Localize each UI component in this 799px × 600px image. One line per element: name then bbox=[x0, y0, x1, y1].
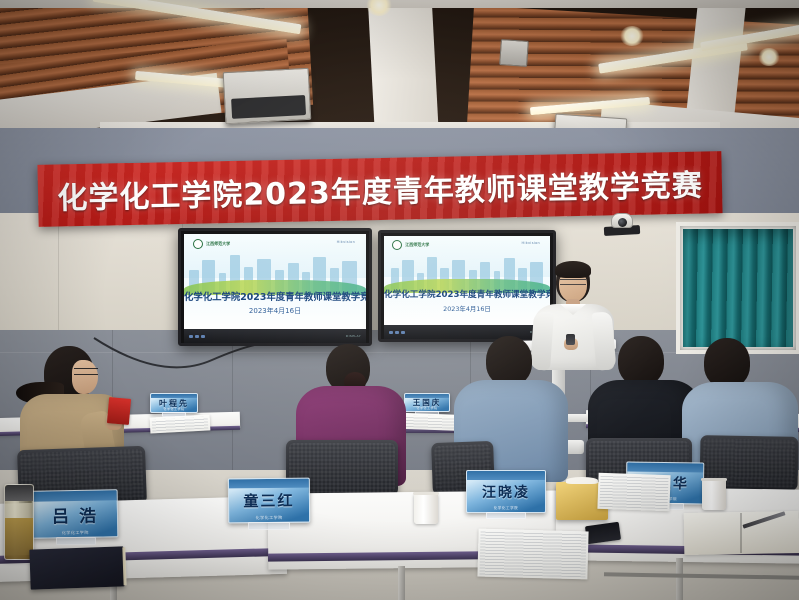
logo-seal-icon bbox=[392, 240, 402, 250]
desk-leg-3 bbox=[676, 558, 683, 600]
window-curtain[interactable] bbox=[683, 229, 793, 347]
notebook-spine-right bbox=[740, 513, 742, 553]
paper-cup-right[interactable] bbox=[702, 480, 726, 510]
placard-back-left: 叶程先 化学化工学院 bbox=[150, 393, 198, 413]
slide-brand-text: Hikvision bbox=[337, 240, 356, 244]
placard-wang-xiaoling: 汪晓凌 化学化工学院 bbox=[466, 470, 546, 513]
placard-subtitle: 化学化工学院 bbox=[467, 506, 545, 511]
chin-buttons[interactable] bbox=[189, 335, 205, 338]
placard-name: 叶程先 bbox=[159, 398, 189, 409]
placard-name: 童三红 bbox=[243, 490, 294, 511]
slide-date-left: 2023年4月16日 bbox=[184, 306, 366, 316]
presenter-hair bbox=[555, 261, 591, 278]
photo-scene: 化学化工学院2023年度青年教师课堂教学竞赛 江西 bbox=[0, 0, 799, 600]
paper-cup-center[interactable] bbox=[414, 494, 438, 524]
placard-name: 汪晓凌 bbox=[482, 482, 530, 502]
slide-university-logo: 江西师范大学 bbox=[392, 240, 429, 250]
ptz-camera-icon bbox=[611, 213, 633, 228]
placard-tong-sanhong: 童三红 化学化工学院 bbox=[228, 478, 310, 524]
attendee-head bbox=[704, 338, 750, 388]
tea-thermos[interactable] bbox=[4, 484, 34, 560]
paper-lines bbox=[479, 531, 586, 578]
placard-subtitle: 化学化工学院 bbox=[229, 515, 309, 522]
score-sheet-front-center[interactable] bbox=[477, 529, 588, 580]
placard-subtitle: 化学化工学院 bbox=[33, 529, 117, 536]
presenter-glasses-icon bbox=[560, 279, 586, 285]
slide-brand-text: Hikvision bbox=[522, 241, 541, 245]
downlight-3 bbox=[758, 48, 780, 66]
paper-lines bbox=[152, 417, 209, 432]
paper-lines bbox=[599, 475, 668, 509]
judge-glasses-icon bbox=[74, 368, 98, 375]
chin-buttons[interactable] bbox=[389, 331, 405, 334]
downlight-2 bbox=[620, 26, 644, 46]
placard-lu-hao: 吕 浩 化学化工学院 bbox=[32, 489, 119, 538]
cup-rim bbox=[413, 492, 439, 495]
projector-left bbox=[223, 68, 312, 124]
judge-face bbox=[72, 360, 98, 394]
screen-chin-label: DISPLAY bbox=[346, 334, 361, 338]
thermos-cap bbox=[5, 485, 33, 501]
cup-rim bbox=[701, 478, 727, 481]
slide-title-left: 化学化工学院2023年度青年教师课堂教学竞赛 bbox=[184, 289, 366, 303]
desk-leg-2 bbox=[398, 566, 405, 600]
placard-stand-wang bbox=[486, 512, 526, 519]
tissue-sheet bbox=[566, 477, 597, 484]
score-sheet-front-right[interactable] bbox=[597, 473, 670, 511]
ceiling-speaker-box bbox=[499, 39, 529, 67]
slide-logo-text: 江西师范大学 bbox=[405, 242, 429, 248]
placard-back-center: 王国庆 化学化工学院 bbox=[404, 393, 450, 412]
logo-seal-icon bbox=[193, 239, 203, 249]
projector-lens bbox=[231, 95, 306, 119]
slide-logo-text: 江西师范大学 bbox=[206, 241, 230, 247]
placard-name: 王国庆 bbox=[413, 397, 442, 408]
window bbox=[676, 222, 799, 354]
banner-text: 化学化工学院2023年度青年教师课堂教学竞赛 bbox=[57, 161, 703, 218]
notebook-left[interactable] bbox=[29, 546, 124, 589]
red-scoring-card[interactable] bbox=[107, 397, 131, 425]
score-sheet-back-left bbox=[150, 414, 211, 433]
display-screen-left[interactable]: 江西师范大学 Hikvision 化学化工学院2023年度青年教师课堂教学竞赛 … bbox=[178, 228, 372, 346]
attendee-head bbox=[618, 336, 664, 386]
screen-chin-left: DISPLAY bbox=[184, 329, 366, 343]
attendee-head bbox=[486, 336, 532, 386]
placard-stand-lu-hao bbox=[56, 537, 96, 545]
placard-name: 吕 浩 bbox=[52, 501, 98, 527]
slide-university-logo: 江西师范大学 bbox=[193, 239, 230, 249]
placard-stand-tong bbox=[248, 522, 290, 530]
slide-left: 江西师范大学 Hikvision 化学化工学院2023年度青年教师课堂教学竞赛 … bbox=[184, 234, 366, 329]
